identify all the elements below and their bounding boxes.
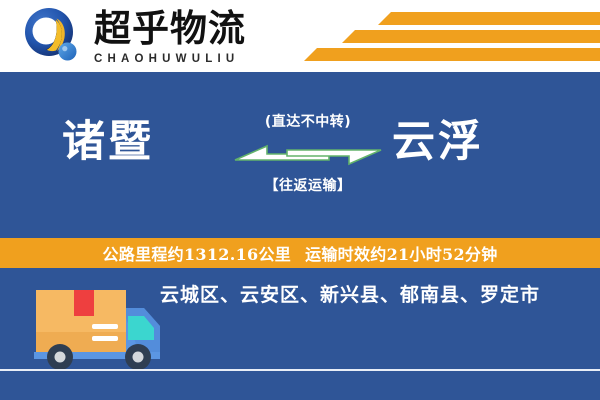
stripe-1 <box>378 12 600 25</box>
route-info-bar: 公路里程约1312.16公里运输时效约21小时52分钟 <box>0 238 600 268</box>
circle-crescent-logo-icon <box>22 6 84 68</box>
coverage-panel: 云城区、云安区、新兴县、郁南县、罗定市 <box>0 268 600 400</box>
stripe-3 <box>304 48 600 61</box>
route-center-block: (直达不中转) 【往返运输】 <box>238 112 378 196</box>
origin-city: 诸暨 <box>62 116 154 168</box>
duration-label: 运输时效约21小时52分钟 <box>305 245 497 264</box>
logistics-route-banner: 超乎物流 CHAOHUWULIU 诸暨 (直达不中转) 【往返运输】 <box>0 0 600 400</box>
stripe-2 <box>342 30 600 43</box>
delivery-truck-icon <box>18 274 178 374</box>
ground-divider-line <box>0 369 600 371</box>
route-panel: 诸暨 (直达不中转) 【往返运输】 云浮 <box>0 72 600 238</box>
brand-logo[interactable]: 超乎物流 CHAOHUWULIU <box>22 6 246 68</box>
banner-header: 超乎物流 CHAOHUWULIU <box>0 0 600 72</box>
bidirectional-arrow-icon <box>233 140 383 170</box>
brand-wordmark: 超乎物流 CHAOHUWULIU <box>94 6 246 66</box>
distance-label: 公路里程约1312.16公里 <box>102 245 291 264</box>
brand-name-en: CHAOHUWULIU <box>94 52 246 66</box>
info-bar-content: 公路里程约1312.16公里运输时效约21小时52分钟 <box>102 241 497 265</box>
brand-name-cn: 超乎物流 <box>94 8 246 50</box>
coverage-areas-label: 云城区、云安区、新兴县、郁南县、罗定市 <box>160 280 540 307</box>
diagonal-stripes-decoration-icon <box>280 8 600 68</box>
destination-city: 云浮 <box>392 116 484 168</box>
route-note-top: (直达不中转) <box>238 112 378 132</box>
route-note-bottom: 【往返运输】 <box>238 176 378 196</box>
